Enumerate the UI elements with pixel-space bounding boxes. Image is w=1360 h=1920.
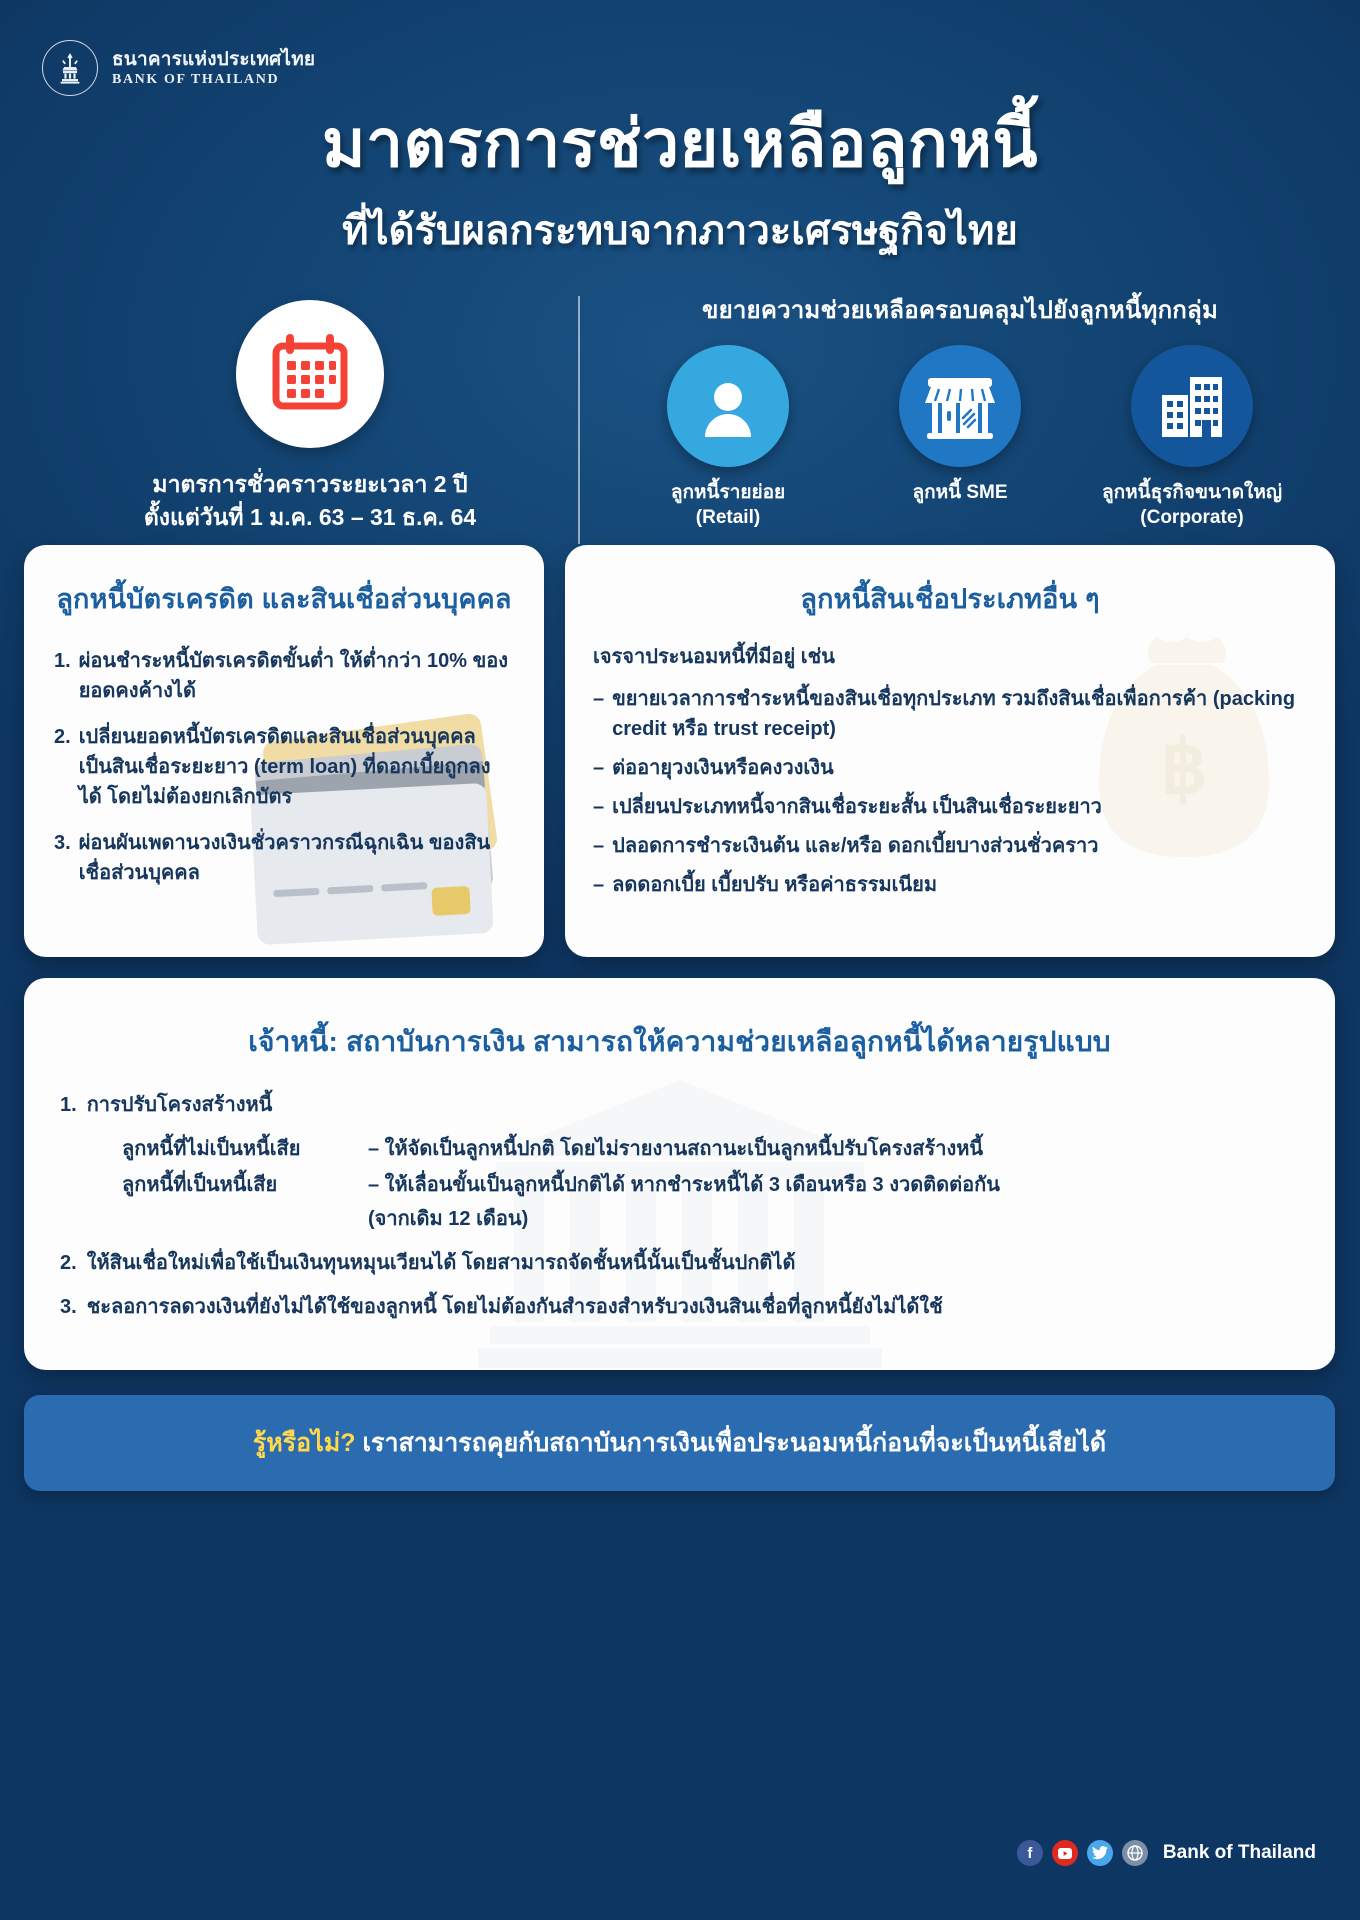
- footer: f Bank of Thailand: [1017, 1840, 1316, 1866]
- brand-name-en: BANK OF THAILAND: [112, 72, 315, 88]
- item-number: 3.: [60, 1292, 77, 1322]
- group-retail-label-th: ลูกหนี้รายย่อย: [630, 481, 826, 506]
- period-line-1: มาตรการชั่วคราวระยะเวลา 2 ปี: [90, 468, 530, 501]
- calendar-icon: [236, 300, 384, 448]
- infographic-page: ธนาคารแห่งประเทศไทย BANK OF THAILAND มาต…: [0, 0, 1360, 1920]
- brand-logo: ธนาคารแห่งประเทศไทย BANK OF THAILAND: [42, 40, 315, 96]
- building-icon: [1131, 345, 1253, 467]
- group-retail: ลูกหนี้รายย่อย (Retail): [630, 345, 826, 530]
- card-other-loan-debtors: ลูกหนี้สินเชื่อประเภทอื่น ๆ ฿ เจรจาประนอ…: [565, 545, 1335, 957]
- list-item: – เปลี่ยนประเภทหนี้จากสินเชื่อระยะสั้น เ…: [593, 792, 1301, 822]
- item-text: ขยายเวลาการชำระหนี้ของสินเชื่อทุกประเภท …: [612, 684, 1301, 744]
- card-creditor-measures: เจ้าหนี้: สถาบันการเงิน สามารถให้ความช่ว…: [24, 978, 1335, 1370]
- dash-marker: –: [593, 870, 604, 900]
- creditor-item-3: 3. ชะลอการลดวงเงินที่ยังไม่ได้ใช้ของลูกห…: [60, 1292, 1295, 1322]
- item-number: 1.: [54, 646, 71, 706]
- dash-marker: –: [593, 684, 604, 744]
- creditor-sub-note: (จากเดิม 12 เดือน): [122, 1204, 1295, 1234]
- subrow-value: – ให้เลื่อนขั้นเป็นลูกหนี้ปกติได้ หากชำร…: [368, 1170, 1295, 1200]
- creditor-item-2: 2. ให้สินเชื่อใหม่เพื่อใช้เป็นเงินทุนหมุ…: [60, 1248, 1295, 1278]
- item-text: ต่ออายุวงเงินหรือคงวงเงิน: [612, 753, 834, 783]
- period-block: มาตรการชั่วคราวระยะเวลา 2 ปี ตั้งแต่วันท…: [90, 300, 530, 535]
- footer-brand-name: Bank of Thailand: [1163, 1842, 1316, 1864]
- creditor-item-1: 1. การปรับโครงสร้างหนี้: [60, 1090, 1295, 1120]
- shop-icon: [899, 345, 1021, 467]
- group-corporate-label-th: ลูกหนี้ธุรกิจขนาดใหญ่: [1094, 481, 1290, 506]
- item-text: เปลี่ยนประเภทหนี้จากสินเชื่อระยะสั้น เป็…: [612, 792, 1102, 822]
- group-corporate-label-en: (Corporate): [1094, 506, 1290, 531]
- youtube-icon[interactable]: [1052, 1840, 1078, 1866]
- item-number: 1.: [60, 1090, 77, 1120]
- item-number: 2.: [60, 1248, 77, 1278]
- list-item: 1. ผ่อนชำระหนี้บัตรเครดิตขั้นต่ำ ให้ต่ำก…: [54, 646, 510, 706]
- person-icon: [667, 345, 789, 467]
- item-number: 2.: [54, 722, 71, 812]
- period-line-2: ตั้งแต่วันที่ 1 ม.ค. 63 – 31 ธ.ค. 64: [90, 501, 530, 534]
- facebook-glyph: f: [1027, 1845, 1032, 1862]
- list-item: 2. เปลี่ยนยอดหนี้บัตรเครดิตและสินเชื่อส่…: [54, 722, 510, 812]
- did-you-know-highlight: รู้หรือไม่?: [253, 1429, 356, 1457]
- dash-marker: –: [593, 753, 604, 783]
- page-subtitle: ที่ได้รับผลกระทบจากภาวะเศรษฐกิจไทย: [0, 198, 1360, 262]
- globe-icon[interactable]: [1122, 1840, 1148, 1866]
- coverage-block: ขยายความช่วยเหลือครอบคลุมไปยังลูกหนี้ทุก…: [600, 290, 1320, 530]
- did-you-know-bar: รู้หรือไม่? เราสามารถคุยกับสถาบันการเงิน…: [24, 1395, 1335, 1491]
- item-text: ให้สินเชื่อใหม่เพื่อใช้เป็นเงินทุนหมุนเว…: [87, 1248, 796, 1278]
- item-text: เปลี่ยนยอดหนี้บัตรเครดิตและสินเชื่อส่วนบ…: [79, 722, 510, 812]
- card-credit-list: 1. ผ่อนชำระหนี้บัตรเครดิตขั้นต่ำ ให้ต่ำก…: [54, 646, 510, 888]
- brand-name-th: ธนาคารแห่งประเทศไทย: [112, 49, 315, 70]
- item-text: การปรับโครงสร้างหนี้: [87, 1090, 273, 1120]
- group-retail-label-en: (Retail): [630, 506, 826, 531]
- list-item: – ปลอดการชำระเงินต้น และ/หรือ ดอกเบี้ยบา…: [593, 831, 1301, 861]
- group-corporate: ลูกหนี้ธุรกิจขนาดใหญ่ (Corporate): [1094, 345, 1290, 530]
- top-info-band: มาตรการชั่วคราวระยะเวลา 2 ปี ตั้งแต่วันท…: [0, 290, 1360, 540]
- card-other-lead: เจรจาประนอมหนี้ที่มีอยู่ เช่น: [593, 642, 1301, 672]
- card-credit-card-debtors: ลูกหนี้บัตรเครดิต และสินเชื่อส่วนบุคคล 1…: [24, 545, 544, 957]
- item-text: ผ่อนผันเพดานวงเงินชั่วคราวกรณีฉุกเฉิน ขอ…: [79, 828, 510, 888]
- list-item: 3. ผ่อนผันเพดานวงเงินชั่วคราวกรณีฉุกเฉิน…: [54, 828, 510, 888]
- facebook-icon[interactable]: f: [1017, 1840, 1043, 1866]
- item-text: ปลอดการชำระเงินต้น และ/หรือ ดอกเบี้ยบางส…: [612, 831, 1098, 861]
- did-you-know-text: เราสามารถคุยกับสถาบันการเงินเพื่อประนอมห…: [356, 1429, 1107, 1457]
- subrow-value: – ให้จัดเป็นลูกหนี้ปกติ โดยไม่รายงานสถาน…: [368, 1134, 1295, 1164]
- dash-marker: –: [593, 792, 604, 822]
- subrow-key: ลูกหนี้ที่เป็นหนี้เสีย: [122, 1170, 354, 1200]
- card-creditor-heading: เจ้าหนี้: สถาบันการเงิน สามารถให้ความช่ว…: [24, 1020, 1335, 1064]
- group-sme-label-th: ลูกหนี้ SME: [862, 481, 1058, 506]
- card-credit-heading: ลูกหนี้บัตรเครดิต และสินเชื่อส่วนบุคคล: [24, 577, 544, 620]
- item-text: ผ่อนชำระหนี้บัตรเครดิตขั้นต่ำ ให้ต่ำกว่า…: [79, 646, 510, 706]
- card-other-list: – ขยายเวลาการชำระหนี้ของสินเชื่อทุกประเภ…: [593, 684, 1301, 900]
- dash-marker: –: [593, 831, 604, 861]
- item-text: ลดดอกเบี้ย เบี้ยปรับ หรือค่าธรรมเนียม: [612, 870, 937, 900]
- page-title: มาตรการช่วยเหลือลูกหนี้: [0, 108, 1360, 179]
- group-sme: ลูกหนี้ SME: [862, 345, 1058, 530]
- twitter-icon[interactable]: [1087, 1840, 1113, 1866]
- item-number: 3.: [54, 828, 71, 888]
- creditor-subrow-2: ลูกหนี้ที่เป็นหนี้เสีย – ให้เลื่อนขั้นเป…: [122, 1170, 1295, 1200]
- coverage-title: ขยายความช่วยเหลือครอบคลุมไปยังลูกหนี้ทุก…: [600, 290, 1320, 329]
- vertical-divider: [578, 296, 580, 544]
- list-item: – ขยายเวลาการชำระหนี้ของสินเชื่อทุกประเภ…: [593, 684, 1301, 744]
- item-text: ชะลอการลดวงเงินที่ยังไม่ได้ใช้ของลูกหนี้…: [87, 1292, 943, 1322]
- bot-seal-icon: [42, 40, 98, 96]
- list-item: – ต่ออายุวงเงินหรือคงวงเงิน: [593, 753, 1301, 783]
- creditor-subrow-1: ลูกหนี้ที่ไม่เป็นหนี้เสีย – ให้จัดเป็นลู…: [122, 1134, 1295, 1164]
- list-item: – ลดดอกเบี้ย เบี้ยปรับ หรือค่าธรรมเนียม: [593, 870, 1301, 900]
- subrow-key: ลูกหนี้ที่ไม่เป็นหนี้เสีย: [122, 1134, 354, 1164]
